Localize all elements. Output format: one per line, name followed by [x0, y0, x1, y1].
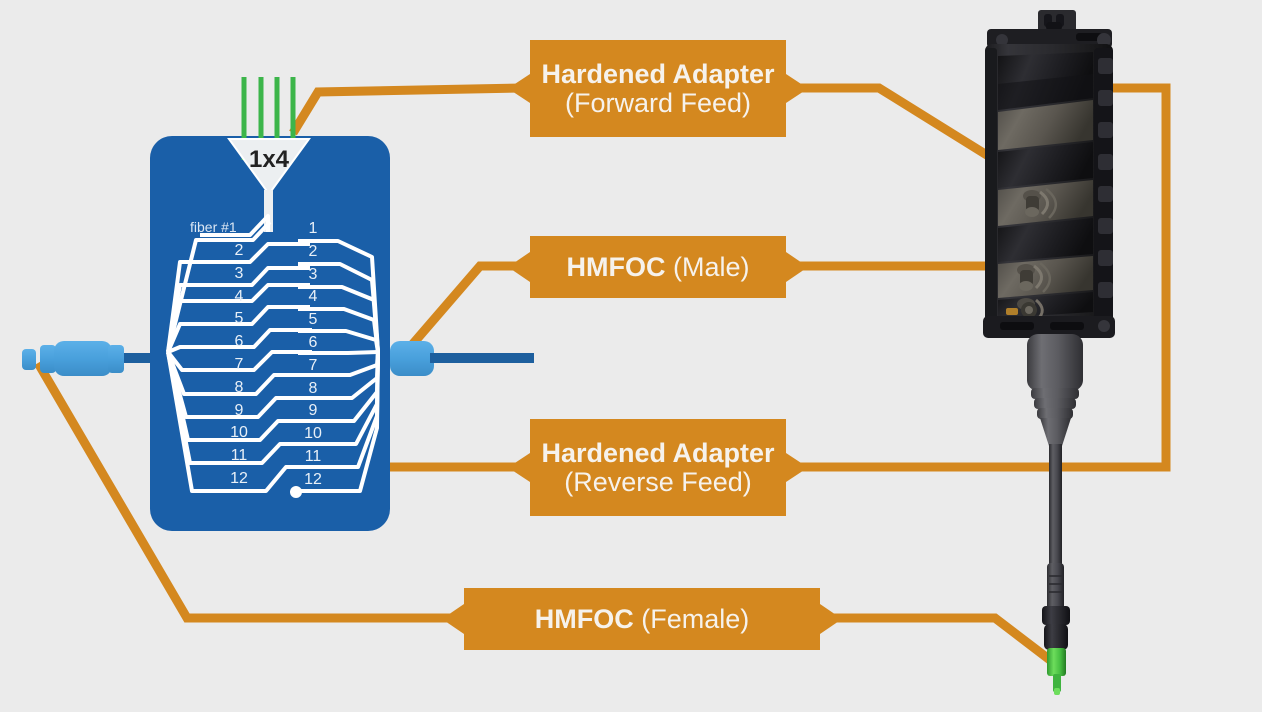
port-number: 9 [286, 400, 340, 423]
port-number: 11 [286, 446, 340, 469]
port-number: 1 [286, 218, 340, 241]
label-hmfoc-female[interactable]: HMFOC (Female) [442, 588, 842, 650]
label-line-2: (Forward Feed) [565, 89, 751, 118]
label-text: HMFOC (Female) [535, 605, 750, 634]
hardened-terminal [983, 10, 1115, 695]
label-regular-text: (Male) [665, 252, 749, 282]
splitter-first-fiber-label: fiber #1 [190, 219, 237, 235]
port-number: 2 [286, 241, 340, 264]
port-number: 12 [212, 468, 266, 491]
port-number: 4 [286, 286, 340, 309]
splitter-module-label: 1x4 [229, 146, 309, 174]
label-text: HMFOC (Male) [567, 253, 750, 282]
port-number: 4 [212, 286, 266, 309]
label-hardened-adapter-reverse-feed[interactable]: Hardened Adapter (Reverse Feed) [508, 419, 808, 516]
port-number: 10 [286, 423, 340, 446]
port-number: 7 [212, 354, 266, 377]
label-line-2: (Reverse Feed) [564, 468, 752, 497]
connector-body-left [54, 341, 112, 376]
label-bold-text: HMFOC [567, 252, 666, 282]
port-number: 3 [212, 263, 266, 286]
port-number: 10 [212, 422, 266, 445]
diagram-canvas: Hardened Adapter (Forward Feed) HMFOC (M… [0, 0, 1262, 712]
label-line-1: Hardened Adapter [541, 439, 774, 468]
terminal-pigtail [1027, 334, 1083, 695]
label-bold-text: HMFOC [535, 604, 634, 634]
leader-hmfoc-male-left [411, 266, 522, 346]
port-number: 6 [286, 332, 340, 355]
label-hmfoc-male[interactable]: HMFOC (Male) [508, 236, 808, 298]
label-regular-text: (Female) [634, 604, 750, 634]
port-number: 7 [286, 355, 340, 378]
port-number: 6 [212, 331, 266, 354]
port-number: 8 [212, 377, 266, 400]
label-hardened-adapter-forward-feed[interactable]: Hardened Adapter (Forward Feed) [508, 40, 808, 137]
leader-forward-feed-left [293, 88, 522, 133]
port-number: 5 [212, 308, 266, 331]
sc-apc-connector [1047, 648, 1066, 676]
port-number: 5 [286, 309, 340, 332]
label-line-1: Hardened Adapter [541, 60, 774, 89]
leader-hmfoc-female-right [834, 618, 1050, 660]
splitter-left-port-numbers: 2 3 4 5 6 7 8 9 10 11 12 [212, 240, 266, 491]
port-number: 3 [286, 264, 340, 287]
port-number: 12 [286, 469, 340, 492]
port-number: 2 [212, 240, 266, 263]
terminal-ports [998, 52, 1093, 318]
port-number: 9 [212, 400, 266, 423]
port-number: 11 [212, 445, 266, 468]
splitter-output-connector [390, 341, 534, 376]
port-number: 8 [286, 378, 340, 401]
connector-ferrule-far-left [22, 349, 36, 370]
splitter-right-port-numbers: 1 2 3 4 5 6 7 8 9 10 11 12 [286, 218, 340, 492]
